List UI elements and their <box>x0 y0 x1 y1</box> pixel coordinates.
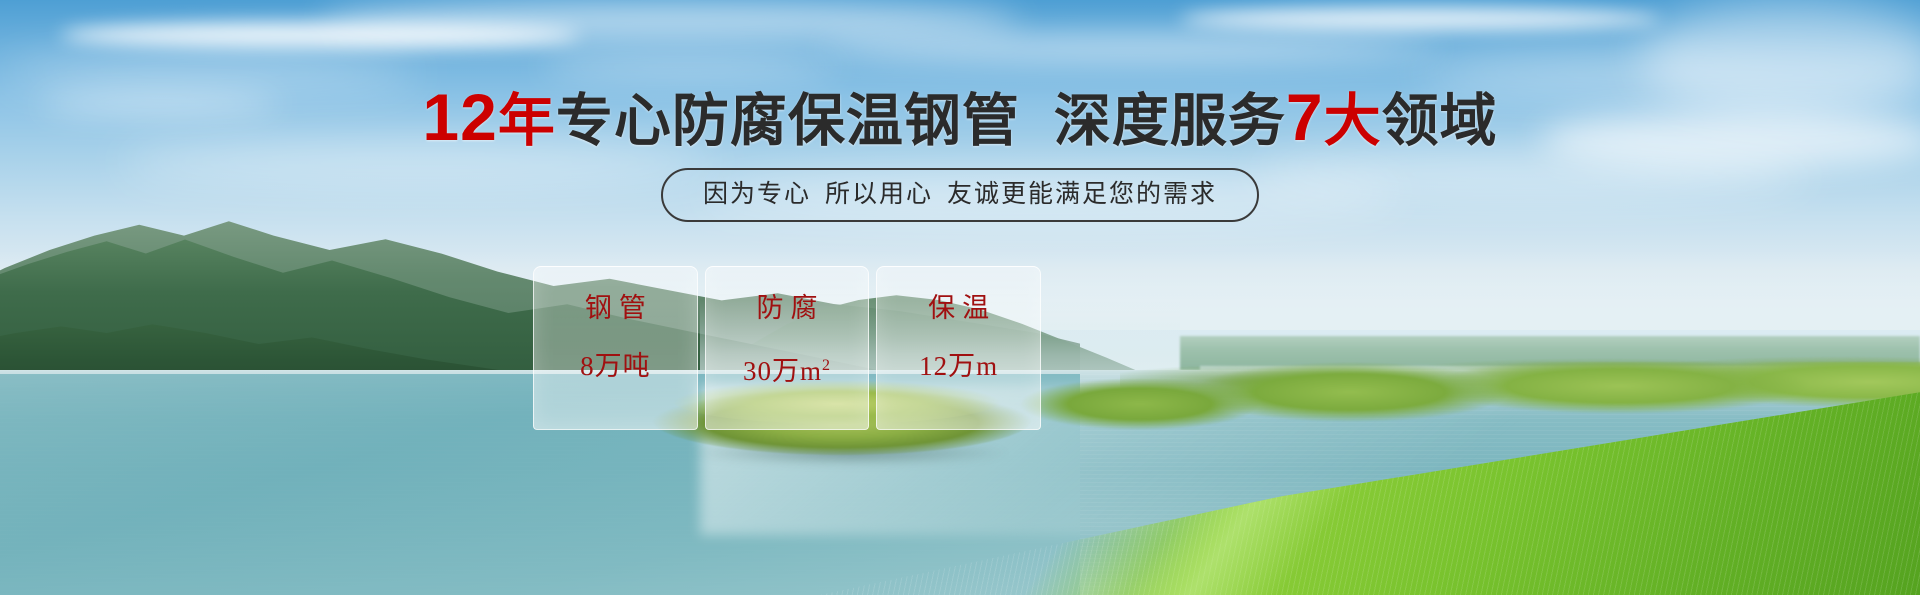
subtitle-part-3: 友诚更能满足您的需求 <box>947 180 1217 208</box>
stat-value: 8万吨 <box>580 351 651 381</box>
cloud-streak <box>1180 8 1660 30</box>
stat-label: 防腐 <box>750 293 825 323</box>
stat-value-main: 12万m <box>919 351 998 381</box>
hero-banner: 12年专心防腐保温钢管深度服务7大领域 因为专心所以用心友诚更能满足您的需求 钢… <box>0 0 1920 595</box>
banner-subtitle-wrap: 因为专心所以用心友诚更能满足您的需求 <box>0 168 1920 222</box>
banner-subtitle-pill: 因为专心所以用心友诚更能满足您的需求 <box>661 168 1259 222</box>
headline-main-text: 专心防腐保温钢管 <box>556 89 1020 153</box>
cloud-streak <box>0 58 420 88</box>
headline-second-text: 深度服务 <box>1054 89 1286 153</box>
cloud-streak <box>820 36 1440 60</box>
headline-lead-unit: 年 <box>498 89 556 153</box>
subtitle-part-2: 所以用心 <box>825 180 933 208</box>
stat-value: 12万m <box>919 351 998 381</box>
headline-tail-text: 领域 <box>1382 89 1498 153</box>
stat-label: 钢管 <box>578 293 653 323</box>
headline-highlight-unit: 大 <box>1324 89 1382 153</box>
stat-card-anticorrosion[interactable]: 防腐 30万m2 <box>705 266 870 430</box>
cloud-streak <box>320 4 1020 38</box>
headline-lead-number: 12 <box>422 80 497 154</box>
stat-value-main: 30万m <box>743 356 822 386</box>
stat-value: 30万m2 <box>743 351 831 386</box>
stat-card-group: 钢管 8万吨 防腐 30万m2 保温 12万m <box>533 266 1041 430</box>
cloud-streak <box>540 60 840 74</box>
subtitle-part-1: 因为专心 <box>703 180 811 208</box>
stat-value-main: 8万吨 <box>580 351 651 381</box>
stat-card-insulation[interactable]: 保温 12万m <box>876 266 1041 430</box>
stat-value-superscript: 2 <box>822 357 831 374</box>
banner-headline: 12年专心防腐保温钢管深度服务7大领域 <box>0 86 1920 152</box>
stat-card-steel-pipe[interactable]: 钢管 8万吨 <box>533 266 698 430</box>
stat-label: 保温 <box>921 293 996 323</box>
headline-highlight-number: 7 <box>1286 80 1324 154</box>
